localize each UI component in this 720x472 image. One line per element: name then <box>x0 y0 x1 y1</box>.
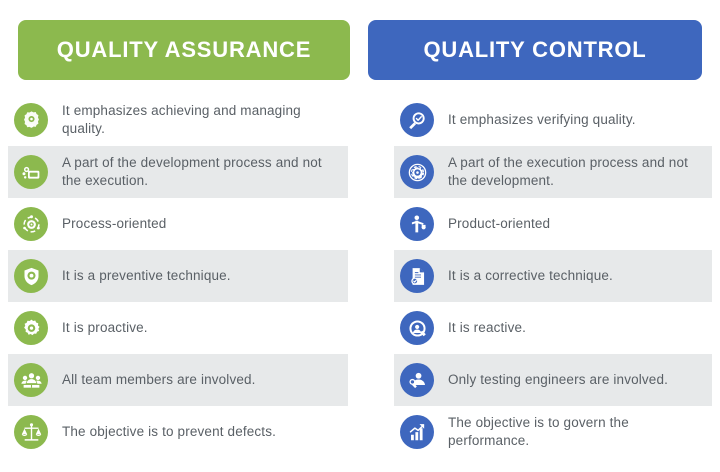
comparison-row: It emphasizes verifying quality. <box>394 94 712 146</box>
comparison-row-text: It is proactive. <box>62 319 348 337</box>
product-person-icon <box>400 207 434 241</box>
support-reactive-icon <box>400 311 434 345</box>
comparison-row: The objective is to govern the performan… <box>394 406 712 458</box>
development-user-icon <box>14 155 48 189</box>
header-row: QUALITY ASSURANCE QUALITY CONTROL <box>0 20 720 80</box>
comparison-row: It emphasizes achieving and managing qua… <box>8 94 348 146</box>
quality-control-title: QUALITY CONTROL <box>423 39 646 61</box>
comparison-infographic: QUALITY ASSURANCE QUALITY CONTROL It emp… <box>0 0 720 472</box>
comparison-row-text: Only testing engineers are involved. <box>448 371 712 389</box>
comparison-row-text: The objective is to prevent defects. <box>62 423 348 441</box>
magnifier-verify-icon <box>400 103 434 137</box>
comparison-row-text: It emphasizes achieving and managing qua… <box>62 102 348 138</box>
comparison-row: It is a corrective technique. <box>394 250 712 302</box>
comparison-row: A part of the execution process and not … <box>394 146 712 198</box>
comparison-row: Product-oriented <box>394 198 712 250</box>
comparison-row-text: It is a preventive technique. <box>62 267 348 285</box>
comparison-row: It is reactive. <box>394 302 712 354</box>
bar-chart-growth-icon <box>400 415 434 449</box>
comparison-row: A part of the development process and no… <box>8 146 348 198</box>
comparison-row-text: A part of the execution process and not … <box>448 154 712 190</box>
comparison-columns: It emphasizes achieving and managing qua… <box>0 94 720 472</box>
process-cycle-icon <box>14 207 48 241</box>
execution-gear-icon <box>400 155 434 189</box>
balance-objective-icon <box>14 415 48 449</box>
shield-preventive-icon <box>14 259 48 293</box>
comparison-row-text: It is a corrective technique. <box>448 267 712 285</box>
document-fix-icon <box>400 259 434 293</box>
cog-proactive-icon <box>14 311 48 345</box>
quality-control-header: QUALITY CONTROL <box>368 20 702 80</box>
quality-assurance-header: QUALITY ASSURANCE <box>18 20 350 80</box>
quality-assurance-title: QUALITY ASSURANCE <box>57 39 311 61</box>
comparison-row: Only testing engineers are involved. <box>394 354 712 406</box>
team-members-icon <box>14 363 48 397</box>
test-engineer-icon <box>400 363 434 397</box>
quality-control-column: It emphasizes verifying quality.A part o… <box>394 94 712 472</box>
comparison-row: The objective is to prevent defects. <box>8 406 348 458</box>
comparison-row-text: Product-oriented <box>448 215 712 233</box>
comparison-row-text: It is reactive. <box>448 319 712 337</box>
comparison-row-text: Process-oriented <box>62 215 348 233</box>
comparison-row-text: All team members are involved. <box>62 371 348 389</box>
quality-assurance-column: It emphasizes achieving and managing qua… <box>8 94 348 472</box>
comparison-row-text: It emphasizes verifying quality. <box>448 111 712 129</box>
comparison-row-text: The objective is to govern the performan… <box>448 414 712 450</box>
comparison-row: All team members are involved. <box>8 354 348 406</box>
comparison-row: It is proactive. <box>8 302 348 354</box>
comparison-row: It is a preventive technique. <box>8 250 348 302</box>
comparison-row: Process-oriented <box>8 198 348 250</box>
gear-quality-icon <box>14 103 48 137</box>
comparison-row-text: A part of the development process and no… <box>62 154 348 190</box>
